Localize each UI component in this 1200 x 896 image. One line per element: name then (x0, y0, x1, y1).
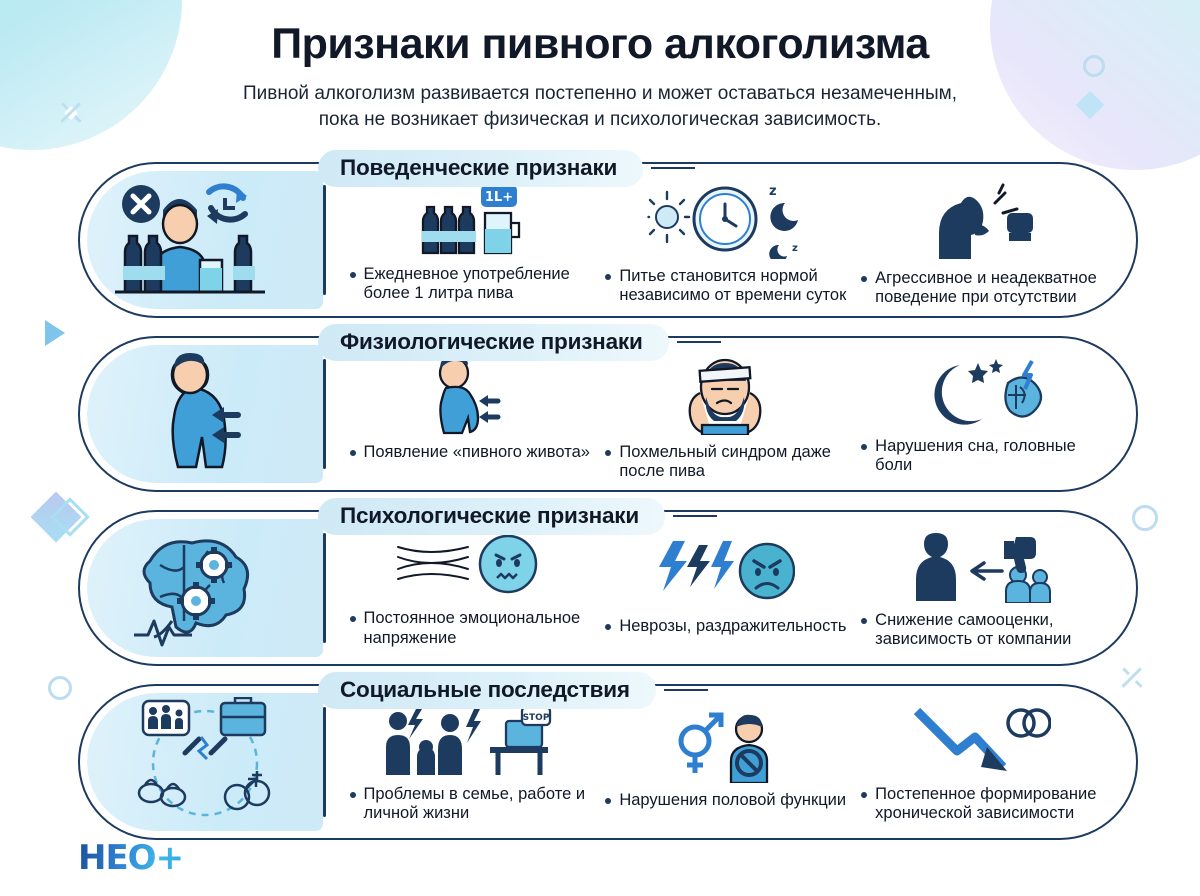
belly-silhouette-icon (110, 349, 300, 479)
beer-bottles-1l-icon: 1L+ (409, 183, 529, 257)
item-icon: z z (645, 183, 805, 259)
section-label-text: Психологические признаки (318, 498, 665, 535)
page-title: Признаки пивного алкоголизма (0, 22, 1200, 67)
item-icon (655, 531, 795, 609)
section-items: STOP Проблемы в семье, работе и личной ж… (326, 693, 1130, 831)
list-item: Нарушения сна, головные боли (853, 353, 1109, 475)
section-illustration (87, 693, 323, 831)
section-items: Постоянное эмоциональное напряжение (326, 519, 1130, 657)
page-subtitle: Пивной алкоголизм развивается постепенно… (175, 81, 1025, 133)
clock-day-night-icon: z z (645, 183, 805, 259)
item-label: Постепенное формирование хронической зав… (859, 785, 1103, 825)
section-label: Психологические признаки (318, 498, 717, 535)
item-icon (394, 531, 544, 601)
sections-list: 1L+ Ежедневное употребление более 1 литр… (0, 150, 1200, 840)
brand-logo: НЕО+ (78, 838, 183, 878)
item-icon (665, 705, 785, 783)
item-label: Неврозы, раздражительность (603, 617, 847, 637)
svg-text:z: z (792, 243, 798, 254)
moon-brain-insomnia-icon (916, 357, 1046, 429)
broken-chain-social-icon (105, 697, 305, 827)
lightning-angry-face-icon (655, 539, 795, 609)
item-icon (911, 705, 1051, 777)
list-item: Постепенное формирование хронической зав… (853, 701, 1109, 823)
man-beer-belly-side-icon (414, 357, 524, 435)
list-item: 1L+ Ежедневное употребление более 1 литр… (342, 179, 598, 301)
item-label: Похмельный синдром даже после пива (603, 443, 847, 483)
item-label: Нарушения половой функции (603, 791, 847, 811)
item-label: Постоянное эмоциональное напряжение (348, 609, 592, 649)
section-label-text: Физиологические признаки (318, 324, 669, 361)
tension-wave-face-icon (394, 531, 544, 601)
section-physiological: Появление «пивного живота» (0, 324, 1200, 492)
svg-text:1L+: 1L+ (485, 190, 513, 205)
hangover-headache-icon (670, 355, 780, 435)
family-work-conflict-icon: STOP (382, 705, 557, 777)
item-label: Агрессивное и неадекватное поведение при… (859, 269, 1103, 309)
list-item: Снижение самооценки, зависимость от комп… (853, 527, 1109, 649)
section-label: Физиологические признаки (318, 324, 721, 361)
svg-text:STOP: STOP (522, 713, 549, 723)
down-arrow-rings-icon (911, 705, 1051, 777)
item-icon (414, 357, 524, 435)
brain-gears-icon (110, 525, 300, 651)
section-rule (664, 689, 708, 692)
subtitle-line-1: Пивной алкоголизм развивается постепенно… (175, 81, 1025, 107)
section-label: Социальные последствия (318, 672, 708, 709)
section-social: STOP Проблемы в семье, работе и личной ж… (0, 672, 1200, 840)
list-item: Агрессивное и неадекватное поведение при… (853, 179, 1109, 301)
section-behavioral: 1L+ Ежедневное употребление более 1 литр… (0, 150, 1200, 318)
section-label-text: Поведенческие признаки (318, 150, 643, 187)
item-icon (921, 183, 1041, 261)
section-illustration (87, 171, 323, 309)
section-rule (677, 341, 721, 344)
section-illustration (87, 519, 323, 657)
section-label-text: Социальные последствия (318, 672, 656, 709)
section-items: Появление «пивного живота» (326, 345, 1130, 483)
section-items: 1L+ Ежедневное употребление более 1 литр… (326, 171, 1130, 309)
list-item: Появление «пивного живота» (342, 353, 598, 475)
item-label: Питье становится нормой независимо от вр… (603, 267, 847, 307)
item-label: Снижение самооценки, зависимость от комп… (859, 611, 1103, 651)
thumbs-down-group-icon (906, 531, 1056, 603)
section-illustration (87, 345, 323, 483)
list-item: Похмельный синдром даже после пива (597, 353, 853, 475)
item-icon: STOP (382, 705, 557, 777)
list-item: z z Питье становится нормой независимо о… (597, 179, 853, 301)
item-label: Проблемы в семье, работе и личной жизни (348, 785, 592, 825)
item-icon (916, 357, 1046, 429)
svg-text:z: z (769, 184, 777, 199)
item-icon (670, 357, 780, 435)
item-label: Нарушения сна, головные боли (859, 437, 1103, 477)
man-with-beer-bottles-icon (105, 174, 305, 306)
section-rule (673, 515, 717, 518)
section-psychological: Постоянное эмоциональное напряжение (0, 498, 1200, 666)
section-rule (651, 167, 695, 170)
list-item: STOP Проблемы в семье, работе и личной ж… (342, 701, 598, 823)
item-label: Ежедневное употребление более 1 литра пи… (348, 265, 592, 305)
list-item: Неврозы, раздражительность (597, 527, 853, 649)
list-item: Постоянное эмоциональное напряжение (342, 527, 598, 649)
item-icon (906, 531, 1056, 603)
item-label: Появление «пивного живота» (348, 443, 592, 463)
subtitle-line-2: пока не возникает физическая и психологи… (175, 107, 1025, 133)
item-icon: 1L+ (409, 183, 529, 257)
angry-shouting-man-icon (921, 183, 1041, 261)
list-item: Нарушения половой функции (597, 701, 853, 823)
section-label: Поведенческие признаки (318, 150, 695, 187)
gender-symbol-block-icon (665, 711, 785, 783)
page-header: Признаки пивного алкоголизма Пивной алко… (0, 0, 1200, 134)
